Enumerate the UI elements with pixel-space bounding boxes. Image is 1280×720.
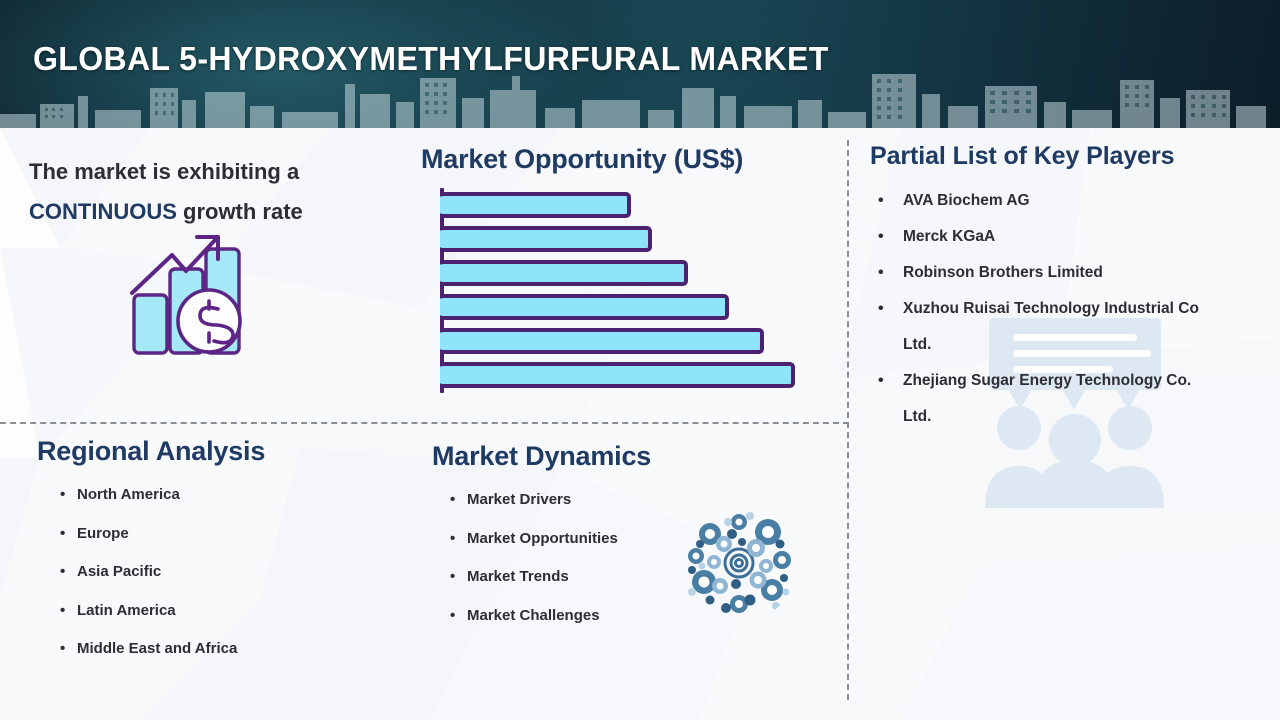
chart-bar bbox=[440, 328, 764, 354]
key-players-title: Partial List of Key Players bbox=[870, 142, 1270, 171]
list-item: Zhejiang Sugar Energy Technology Co. Ltd… bbox=[870, 363, 1222, 435]
chart-bar bbox=[440, 362, 795, 388]
chart-bar bbox=[440, 192, 631, 218]
growth-bar-chart-dollar-icon bbox=[128, 233, 263, 358]
growth-line-1: The market is exhibiting a bbox=[29, 152, 409, 192]
list-item: Europe bbox=[60, 515, 417, 554]
regional-analysis-list: North America Europe Asia Pacific Latin … bbox=[37, 476, 417, 669]
list-item: Xuzhou Ruisai Technology Industrial Co L… bbox=[870, 291, 1222, 363]
chart-bar bbox=[440, 260, 688, 286]
regional-analysis-block: Regional Analysis North America Europe A… bbox=[37, 436, 417, 669]
horizontal-divider bbox=[0, 422, 849, 424]
list-item: AVA Biochem AG bbox=[870, 183, 1222, 219]
chart-bar bbox=[440, 294, 729, 320]
growth-line-2: CONTINUOUS growth rate bbox=[29, 192, 409, 232]
gears-cluster-icon bbox=[680, 504, 798, 622]
market-dynamics-title: Market Dynamics bbox=[432, 441, 832, 472]
chart-title: Market Opportunity (US$) bbox=[421, 144, 841, 175]
content-area: The market is exhibiting a CONTINUOUS gr… bbox=[0, 128, 1280, 720]
regional-analysis-title: Regional Analysis bbox=[37, 436, 417, 467]
list-item: Middle East and Africa bbox=[60, 630, 417, 669]
page-header: GLOBAL 5-HYDROXYMETHYLFURFURAL MARKET bbox=[0, 0, 1280, 128]
chart-bar bbox=[440, 226, 652, 252]
key-players-block: Partial List of Key Players AVA Biochem … bbox=[870, 142, 1270, 435]
growth-rest: growth rate bbox=[177, 199, 303, 224]
page-title: GLOBAL 5-HYDROXYMETHYLFURFURAL MARKET bbox=[33, 40, 829, 78]
market-dynamics-block: Market Dynamics Market Drivers Market Op… bbox=[432, 441, 832, 635]
list-item: Merck KGaA bbox=[870, 219, 1222, 255]
growth-emphasis: CONTINUOUS bbox=[29, 199, 177, 224]
key-players-list: AVA Biochem AG Merck KGaA Robinson Broth… bbox=[870, 183, 1270, 435]
list-item: Robinson Brothers Limited bbox=[870, 255, 1222, 291]
list-item: North America bbox=[60, 476, 417, 515]
list-item: Asia Pacific bbox=[60, 553, 417, 592]
market-opportunity-chart: Market Opportunity (US$) bbox=[421, 144, 841, 393]
list-item: Latin America bbox=[60, 592, 417, 631]
growth-statement-block: The market is exhibiting a CONTINUOUS gr… bbox=[29, 152, 409, 232]
vertical-divider bbox=[847, 140, 849, 700]
chart-plot-area bbox=[421, 188, 821, 393]
